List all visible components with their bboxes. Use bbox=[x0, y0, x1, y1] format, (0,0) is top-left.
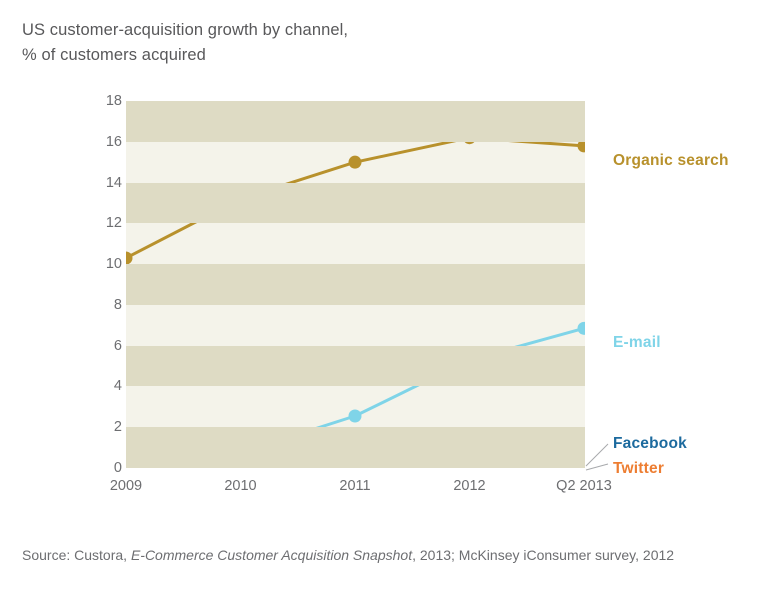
series-label-twitter: Twitter bbox=[613, 460, 664, 478]
background-band bbox=[126, 264, 585, 305]
x-axis-tick-label: Q2 2013 bbox=[556, 478, 612, 494]
background-band bbox=[126, 427, 585, 468]
background-band bbox=[126, 101, 585, 142]
y-axis-tick-label: 6 bbox=[82, 338, 122, 354]
leader-line bbox=[586, 464, 608, 470]
source-note: Source: Custora, E-Commerce Customer Acq… bbox=[22, 545, 742, 566]
y-axis-tick-label: 10 bbox=[82, 256, 122, 272]
y-axis-tick-label: 16 bbox=[82, 134, 122, 150]
x-axis-tick-label: 2010 bbox=[224, 478, 256, 494]
y-axis: 024681012141618 bbox=[78, 101, 122, 468]
y-axis-tick-label: 18 bbox=[82, 93, 122, 109]
y-axis-tick-label: 12 bbox=[82, 215, 122, 231]
background-band bbox=[126, 183, 585, 224]
background-band bbox=[126, 346, 585, 387]
y-axis-tick-label: 0 bbox=[82, 460, 122, 476]
data-point-marker bbox=[126, 251, 133, 264]
x-axis-tick-label: 2012 bbox=[453, 478, 485, 494]
series-label-organic-search: Organic search bbox=[613, 152, 729, 170]
data-point-marker bbox=[349, 410, 362, 423]
series-label-facebook: Facebook bbox=[613, 435, 687, 453]
y-axis-tick-label: 8 bbox=[82, 297, 122, 313]
x-axis: 2009201020112012Q2 2013 bbox=[126, 478, 585, 502]
leader-line bbox=[586, 444, 608, 466]
source-title-italic: E-Commerce Customer Acquisition Snapshot bbox=[131, 547, 412, 563]
source-suffix: , 2013; McKinsey iConsumer survey, 2012 bbox=[412, 547, 674, 563]
series-label-e-mail: E-mail bbox=[613, 334, 661, 352]
line-chart-figure: 024681012141618 2009201020112012Q2 2013 … bbox=[0, 0, 768, 601]
data-point-marker bbox=[349, 156, 362, 169]
x-axis-tick-label: 2009 bbox=[110, 478, 142, 494]
plot-area bbox=[126, 101, 585, 468]
y-axis-tick-label: 14 bbox=[82, 175, 122, 191]
source-prefix: Source: Custora, bbox=[22, 547, 131, 563]
y-axis-tick-label: 2 bbox=[82, 419, 122, 435]
x-axis-tick-label: 2011 bbox=[339, 478, 370, 494]
y-axis-tick-label: 4 bbox=[82, 378, 122, 394]
data-point-marker bbox=[578, 322, 586, 335]
